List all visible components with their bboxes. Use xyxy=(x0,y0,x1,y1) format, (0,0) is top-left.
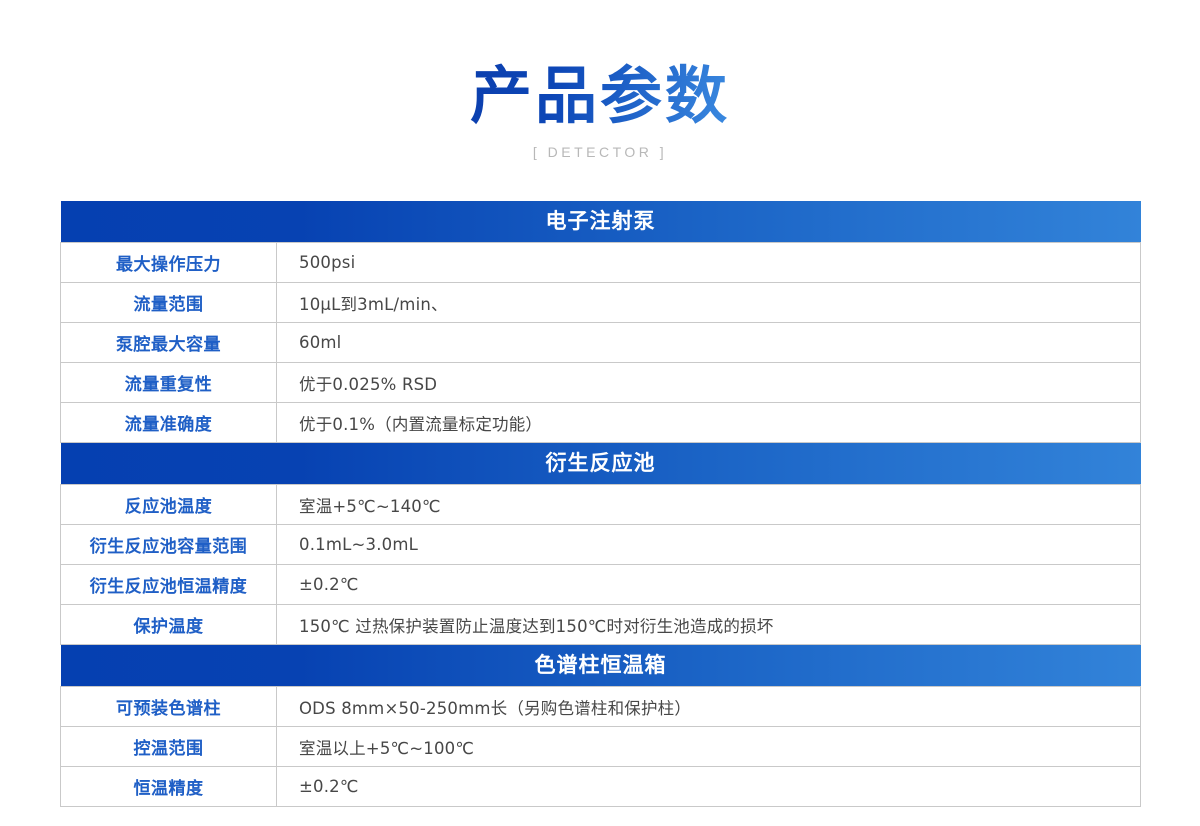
spec-value: 优于0.1%（内置流量标定功能） xyxy=(277,403,1141,443)
spec-table-body: 电子注射泵 最大操作压力 500psi 流量范围 10μL到3mL/min、 泵… xyxy=(61,201,1141,807)
table-row: 衍生反应池恒温精度 ±0.2℃ xyxy=(61,565,1141,605)
section-title-column-oven: 色谱柱恒温箱 xyxy=(61,645,1141,686)
table-row: 保护温度 150℃ 过热保护装置防止温度达到150℃时对衍生池造成的损坏 xyxy=(61,605,1141,645)
spec-value: ODS 8mm×50-250mm长（另购色谱柱和保护柱） xyxy=(277,687,1141,727)
section-header-cell: 衍生反应池 xyxy=(61,443,1141,485)
spec-value: ±0.2℃ xyxy=(277,565,1141,605)
spec-value: 室温+5℃~140℃ xyxy=(277,485,1141,525)
section-title-derivatization-reactor: 衍生反应池 xyxy=(61,443,1141,484)
page-header: 产品参数 [ DETECTOR ] xyxy=(0,0,1200,160)
product-spec-page: 产品参数 [ DETECTOR ] 电子注射泵 最大操作压力 500psi 流量… xyxy=(0,0,1200,826)
section-header-row: 电子注射泵 xyxy=(61,201,1141,243)
spec-label: 保护温度 xyxy=(61,605,277,645)
table-row: 控温范围 室温以上+5℃~100℃ xyxy=(61,727,1141,767)
spec-table: 电子注射泵 最大操作压力 500psi 流量范围 10μL到3mL/min、 泵… xyxy=(60,201,1141,807)
section-header-row: 色谱柱恒温箱 xyxy=(61,645,1141,687)
section-header-row: 衍生反应池 xyxy=(61,443,1141,485)
spec-value: 60ml xyxy=(277,323,1141,363)
spec-label: 流量重复性 xyxy=(61,363,277,403)
spec-label: 流量准确度 xyxy=(61,403,277,443)
spec-value: 优于0.025% RSD xyxy=(277,363,1141,403)
spec-label: 反应池温度 xyxy=(61,485,277,525)
spec-value: 500psi xyxy=(277,243,1141,283)
spec-label: 控温范围 xyxy=(61,727,277,767)
page-title: 产品参数 xyxy=(470,62,730,130)
spec-label: 最大操作压力 xyxy=(61,243,277,283)
spec-label: 衍生反应池恒温精度 xyxy=(61,565,277,605)
table-row: 可预装色谱柱 ODS 8mm×50-250mm长（另购色谱柱和保护柱） xyxy=(61,687,1141,727)
section-title-electronic-injection-pump: 电子注射泵 xyxy=(61,201,1141,242)
section-header-cell: 电子注射泵 xyxy=(61,201,1141,243)
spec-value: ±0.2℃ xyxy=(277,767,1141,807)
spec-label: 可预装色谱柱 xyxy=(61,687,277,727)
spec-label: 流量范围 xyxy=(61,283,277,323)
table-row: 流量范围 10μL到3mL/min、 xyxy=(61,283,1141,323)
table-row: 泵腔最大容量 60ml xyxy=(61,323,1141,363)
spec-value: 室温以上+5℃~100℃ xyxy=(277,727,1141,767)
spec-label: 恒温精度 xyxy=(61,767,277,807)
table-row: 衍生反应池容量范围 0.1mL~3.0mL xyxy=(61,525,1141,565)
table-row: 流量重复性 优于0.025% RSD xyxy=(61,363,1141,403)
table-row: 反应池温度 室温+5℃~140℃ xyxy=(61,485,1141,525)
table-row: 恒温精度 ±0.2℃ xyxy=(61,767,1141,807)
spec-label: 衍生反应池容量范围 xyxy=(61,525,277,565)
section-header-cell: 色谱柱恒温箱 xyxy=(61,645,1141,687)
page-subtitle: [ DETECTOR ] xyxy=(0,144,1200,160)
spec-value: 150℃ 过热保护装置防止温度达到150℃时对衍生池造成的损坏 xyxy=(277,605,1141,645)
table-row: 流量准确度 优于0.1%（内置流量标定功能） xyxy=(61,403,1141,443)
spec-value: 10μL到3mL/min、 xyxy=(277,283,1141,323)
spec-value: 0.1mL~3.0mL xyxy=(277,525,1141,565)
table-row: 最大操作压力 500psi xyxy=(61,243,1141,283)
spec-label: 泵腔最大容量 xyxy=(61,323,277,363)
